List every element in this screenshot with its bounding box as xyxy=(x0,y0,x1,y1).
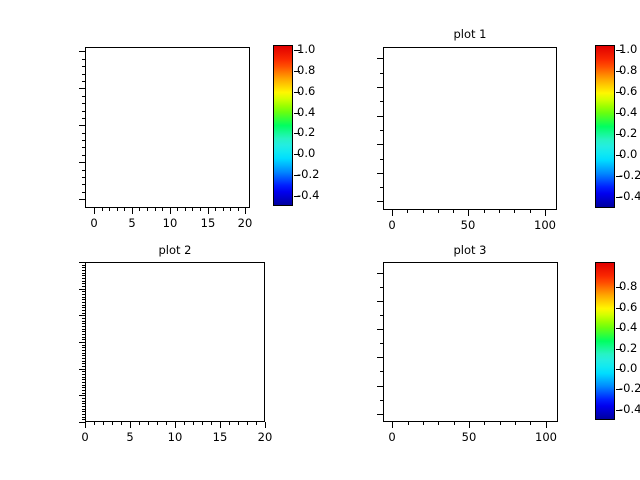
colorbar-tick-label: 1.0 xyxy=(619,42,637,56)
axis-tick xyxy=(545,210,546,216)
axis-tick-label: 100 xyxy=(515,218,575,232)
axis-tick xyxy=(82,111,85,112)
axis-tick xyxy=(193,422,194,425)
axis-tick xyxy=(82,155,85,156)
axis-tick-label: 50 xyxy=(438,218,498,232)
axis-tick xyxy=(82,294,85,295)
axis-tick xyxy=(380,130,383,131)
axis-tick xyxy=(82,96,85,97)
axis-tick xyxy=(82,313,85,314)
axis-tick xyxy=(82,297,85,298)
axis-tick xyxy=(82,310,85,311)
axis-tick xyxy=(82,417,85,418)
axis-tick xyxy=(82,273,85,274)
axis-tick xyxy=(82,366,85,367)
axis-tick xyxy=(148,422,149,425)
axis-tick xyxy=(82,265,85,266)
axis-tick xyxy=(82,329,85,330)
axis-tick-label: 100 xyxy=(516,430,576,444)
axis-tick xyxy=(121,422,122,425)
axis-tick xyxy=(200,208,201,211)
colorbar-tick-label: 0.4 xyxy=(297,105,315,119)
axis-tick xyxy=(82,66,85,67)
axis-tick xyxy=(82,419,85,420)
axis-tick xyxy=(82,401,85,402)
axis-tick xyxy=(82,350,85,351)
axis-tick xyxy=(499,210,500,213)
axis-tick xyxy=(380,101,383,102)
axis-tick xyxy=(82,409,85,410)
axis-tick xyxy=(132,208,133,214)
colorbar-tick-label: 0.8 xyxy=(619,279,637,293)
axis-tick xyxy=(82,326,85,327)
axis-tick xyxy=(79,262,85,263)
axis-tick xyxy=(500,422,501,425)
axis-tick xyxy=(407,210,408,213)
axis-tick xyxy=(185,208,186,211)
colorbar-tick-label: 0.6 xyxy=(297,84,315,98)
colorbar-tick-label: -0.4 xyxy=(619,189,640,203)
colorbar-gradient-plot3 xyxy=(596,263,614,419)
axis-tick xyxy=(79,289,85,290)
axis-tick xyxy=(82,275,85,276)
axis-tick xyxy=(514,210,515,213)
axis-tick xyxy=(82,192,85,193)
axis-tick xyxy=(117,208,118,211)
axis-tick xyxy=(223,208,224,211)
axis-tick xyxy=(82,387,85,388)
axis-tick xyxy=(103,422,104,425)
axis-tick xyxy=(392,210,393,216)
colorbar-plot1 xyxy=(595,45,615,208)
axis-tick xyxy=(82,377,85,378)
axis-tick xyxy=(82,321,85,322)
axis-tick xyxy=(468,210,469,216)
axis-tick xyxy=(82,59,85,60)
axis-tick xyxy=(230,208,231,211)
axis-tick xyxy=(469,422,470,428)
axis-tick xyxy=(82,307,85,308)
axis-tick xyxy=(82,103,85,104)
axis-tick xyxy=(438,210,439,213)
axis-tick xyxy=(453,210,454,213)
axis-tick xyxy=(380,187,383,188)
axis-tick xyxy=(94,422,95,425)
colorbar-plot3 xyxy=(595,262,615,420)
colorbar-tick-label: -0.2 xyxy=(619,381,640,395)
axis-tick xyxy=(82,385,85,386)
axis-tick xyxy=(102,208,103,211)
axis-tick xyxy=(82,361,85,362)
axis-tick xyxy=(82,358,85,359)
axis-tick xyxy=(124,208,125,211)
plot-title-plot1: plot 1 xyxy=(390,27,550,41)
axis-tick xyxy=(220,422,221,428)
axis-tick xyxy=(380,371,383,372)
axis-tick xyxy=(380,343,383,344)
colorbar-tick-label: 0.4 xyxy=(619,105,637,119)
axis-tick xyxy=(229,422,230,425)
axis-tick xyxy=(377,144,383,145)
axis-tick xyxy=(85,422,86,428)
axis-tick xyxy=(82,147,85,148)
colorbar-tick-label: -0.2 xyxy=(297,167,319,181)
axis-tick xyxy=(157,422,158,425)
axis-tick xyxy=(377,329,383,330)
axis-tick xyxy=(377,357,383,358)
axis-tick xyxy=(82,406,85,407)
axis-tick xyxy=(215,208,216,211)
colorbar-tick-label: 0.8 xyxy=(297,63,315,77)
axis-tick xyxy=(82,393,85,394)
axis-tick xyxy=(423,210,424,213)
axis-tick-label: 0 xyxy=(362,218,422,232)
axis-tick xyxy=(438,422,439,425)
colorbar-tick-label: 0.6 xyxy=(619,300,637,314)
axis-tick xyxy=(484,422,485,425)
colorbar-tick-label: 1.0 xyxy=(297,42,315,56)
axis-tick xyxy=(82,177,85,178)
colorbar-tick-label: 0.0 xyxy=(619,361,637,375)
axis-tick xyxy=(380,159,383,160)
axis-tick xyxy=(79,162,85,163)
axis-tick xyxy=(177,208,178,211)
axis-tick xyxy=(82,403,85,404)
colorbar-tick-label: 0.0 xyxy=(619,147,637,161)
axis-tick xyxy=(155,208,156,211)
colorbar-tick-label: 0.0 xyxy=(297,146,315,160)
axis-tick xyxy=(238,208,239,211)
axis-tick xyxy=(546,422,547,428)
axes-frame-plot1 xyxy=(383,47,557,210)
plot-title-plot2: plot 2 xyxy=(95,243,255,257)
axis-tick xyxy=(79,342,85,343)
axis-tick xyxy=(130,422,131,428)
axis-tick xyxy=(82,374,85,375)
axis-tick xyxy=(82,270,85,271)
axis-tick xyxy=(530,422,531,425)
axis-tick xyxy=(377,386,383,387)
axis-tick xyxy=(392,422,393,428)
axis-tick xyxy=(377,173,383,174)
axis-tick xyxy=(82,339,85,340)
axis-tick xyxy=(82,305,85,306)
axis-tick xyxy=(82,267,85,268)
colorbar-tick-label: 0.2 xyxy=(619,126,637,140)
axis-tick xyxy=(380,73,383,74)
axis-tick xyxy=(82,281,85,282)
axis-tick xyxy=(82,323,85,324)
axis-tick xyxy=(82,299,85,300)
axis-tick xyxy=(79,199,85,200)
colorbar-tick-label: -0.4 xyxy=(297,188,319,202)
axis-tick xyxy=(454,422,455,425)
axis-tick xyxy=(82,347,85,348)
axis-tick xyxy=(82,337,85,338)
axis-tick xyxy=(377,273,383,274)
axis-tick xyxy=(162,208,163,211)
axes-frame-plot2 xyxy=(85,262,265,422)
axis-tick xyxy=(82,286,85,287)
axis-tick xyxy=(79,88,85,89)
axis-tick xyxy=(139,208,140,211)
axis-tick xyxy=(175,422,176,428)
axis-tick xyxy=(79,51,85,52)
axis-tick xyxy=(82,363,85,364)
axis-tick xyxy=(408,422,409,425)
axis-tick-label: 20 xyxy=(235,430,295,444)
colorbar-gradient-plot0 xyxy=(274,46,292,205)
axis-tick xyxy=(192,208,193,211)
axis-tick xyxy=(82,353,85,354)
axis-tick-label: 50 xyxy=(439,430,499,444)
axis-tick-label: 0 xyxy=(362,430,422,444)
axis-tick xyxy=(147,208,148,211)
axis-tick xyxy=(377,58,383,59)
axis-tick xyxy=(377,87,383,88)
axis-tick xyxy=(82,390,85,391)
axis-tick xyxy=(256,422,257,425)
axis-tick xyxy=(82,345,85,346)
colorbar-tick-label: 0.2 xyxy=(297,125,315,139)
axis-tick xyxy=(423,422,424,425)
axis-tick xyxy=(94,208,95,214)
axis-tick xyxy=(112,422,113,425)
axis-tick xyxy=(82,283,85,284)
colorbar-tick-label: -0.4 xyxy=(619,402,640,416)
axis-tick xyxy=(82,118,85,119)
axis-tick xyxy=(109,208,110,211)
axis-tick xyxy=(82,74,85,75)
axis-tick xyxy=(79,315,85,316)
axis-tick xyxy=(377,414,383,415)
axis-tick xyxy=(265,422,266,428)
axis-tick xyxy=(79,395,85,396)
axis-tick xyxy=(82,414,85,415)
axis-tick xyxy=(79,422,85,423)
axis-tick xyxy=(82,398,85,399)
axis-tick xyxy=(82,302,85,303)
axis-tick xyxy=(208,208,209,214)
colorbar-plot0 xyxy=(273,45,293,206)
axis-tick xyxy=(170,208,171,214)
axis-tick xyxy=(484,210,485,213)
axis-tick xyxy=(377,201,383,202)
axis-tick xyxy=(380,400,383,401)
axis-tick xyxy=(82,355,85,356)
axis-tick xyxy=(515,422,516,425)
axis-tick xyxy=(82,81,85,82)
axis-tick xyxy=(82,318,85,319)
axis-tick xyxy=(530,210,531,213)
axis-tick xyxy=(202,422,203,425)
axis-tick xyxy=(82,133,85,134)
axis-tick xyxy=(82,371,85,372)
axis-tick xyxy=(82,184,85,185)
axis-tick xyxy=(139,422,140,425)
axis-tick xyxy=(82,140,85,141)
axis-tick xyxy=(211,422,212,425)
axis-tick xyxy=(82,291,85,292)
axis-tick xyxy=(82,411,85,412)
axis-tick xyxy=(238,422,239,425)
axis-tick xyxy=(380,315,383,316)
axis-tick xyxy=(79,125,85,126)
colorbar-tick-label: -0.2 xyxy=(619,168,640,182)
axis-tick xyxy=(82,170,85,171)
axes-frame-plot0 xyxy=(85,47,250,208)
axis-tick xyxy=(166,422,167,425)
colorbar-tick-label: 0.6 xyxy=(619,84,637,98)
axis-tick xyxy=(184,422,185,425)
axis-tick xyxy=(79,369,85,370)
axis-tick-label: 20 xyxy=(215,216,275,230)
axis-tick xyxy=(82,331,85,332)
colorbar-tick-label: 0.2 xyxy=(619,341,637,355)
axes-frame-plot3 xyxy=(383,262,558,422)
axis-tick xyxy=(82,278,85,279)
axis-tick xyxy=(82,334,85,335)
plot-title-plot3: plot 3 xyxy=(390,243,550,257)
axis-tick xyxy=(82,382,85,383)
axis-tick xyxy=(377,301,383,302)
axis-tick xyxy=(247,422,248,425)
axis-tick xyxy=(82,379,85,380)
axis-tick xyxy=(380,287,383,288)
axis-tick xyxy=(245,208,246,214)
colorbar-tick-label: 0.8 xyxy=(619,63,637,77)
colorbar-tick-label: 0.4 xyxy=(619,320,637,334)
colorbar-gradient-plot1 xyxy=(596,46,614,207)
axis-tick xyxy=(377,116,383,117)
